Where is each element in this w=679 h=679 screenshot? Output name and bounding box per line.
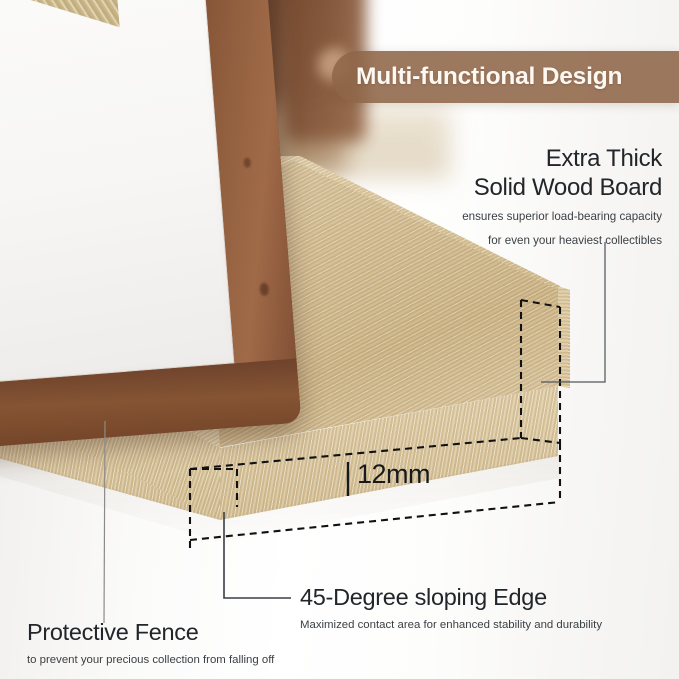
- callout-protective-fence-title: Protective Fence: [27, 619, 274, 647]
- annotation-overlay: 12mm Multi-functional Design Extra Thick…: [0, 0, 679, 679]
- callout-sloping-edge: 45-Degree sloping Edge Maximized contact…: [300, 584, 602, 633]
- headline-banner-label: Multi-functional Design: [356, 63, 622, 91]
- callout-protective-fence-sub: to prevent your precious collection from…: [27, 652, 274, 668]
- callout-extra-thick-title-line2: Solid Wood Board: [462, 174, 662, 203]
- headline-banner: Multi-functional Design: [332, 51, 679, 103]
- product-infographic: 12mm Multi-functional Design Extra Thick…: [0, 0, 679, 679]
- thickness-label-12mm: 12mm: [357, 459, 430, 490]
- leader-line-sloping-edge: [224, 512, 291, 598]
- dashed-right-end-top: [521, 300, 560, 307]
- callout-protective-fence: Protective Fence to prevent your preciou…: [27, 619, 274, 668]
- callout-extra-thick-title-line1: Extra Thick: [462, 145, 662, 174]
- callout-sloping-edge-sub: Maximized contact area for enhanced stab…: [300, 617, 602, 633]
- dashed-thickness-top-edge: [190, 438, 521, 469]
- callout-extra-thick-sub-line2: for even your heaviest collectibles: [462, 233, 662, 249]
- callout-extra-thick: Extra Thick Solid Wood Board ensures sup…: [462, 145, 662, 249]
- callout-extra-thick-sub-line1: ensures superior load-bearing capacity: [462, 209, 662, 225]
- dashed-right-end-bottom: [521, 438, 560, 443]
- dashed-thickness-bottom-edge: [190, 502, 560, 540]
- leader-line-extra-thick: [541, 242, 605, 382]
- callout-sloping-edge-title: 45-Degree sloping Edge: [300, 584, 602, 612]
- leader-line-protective-fence: [104, 421, 105, 623]
